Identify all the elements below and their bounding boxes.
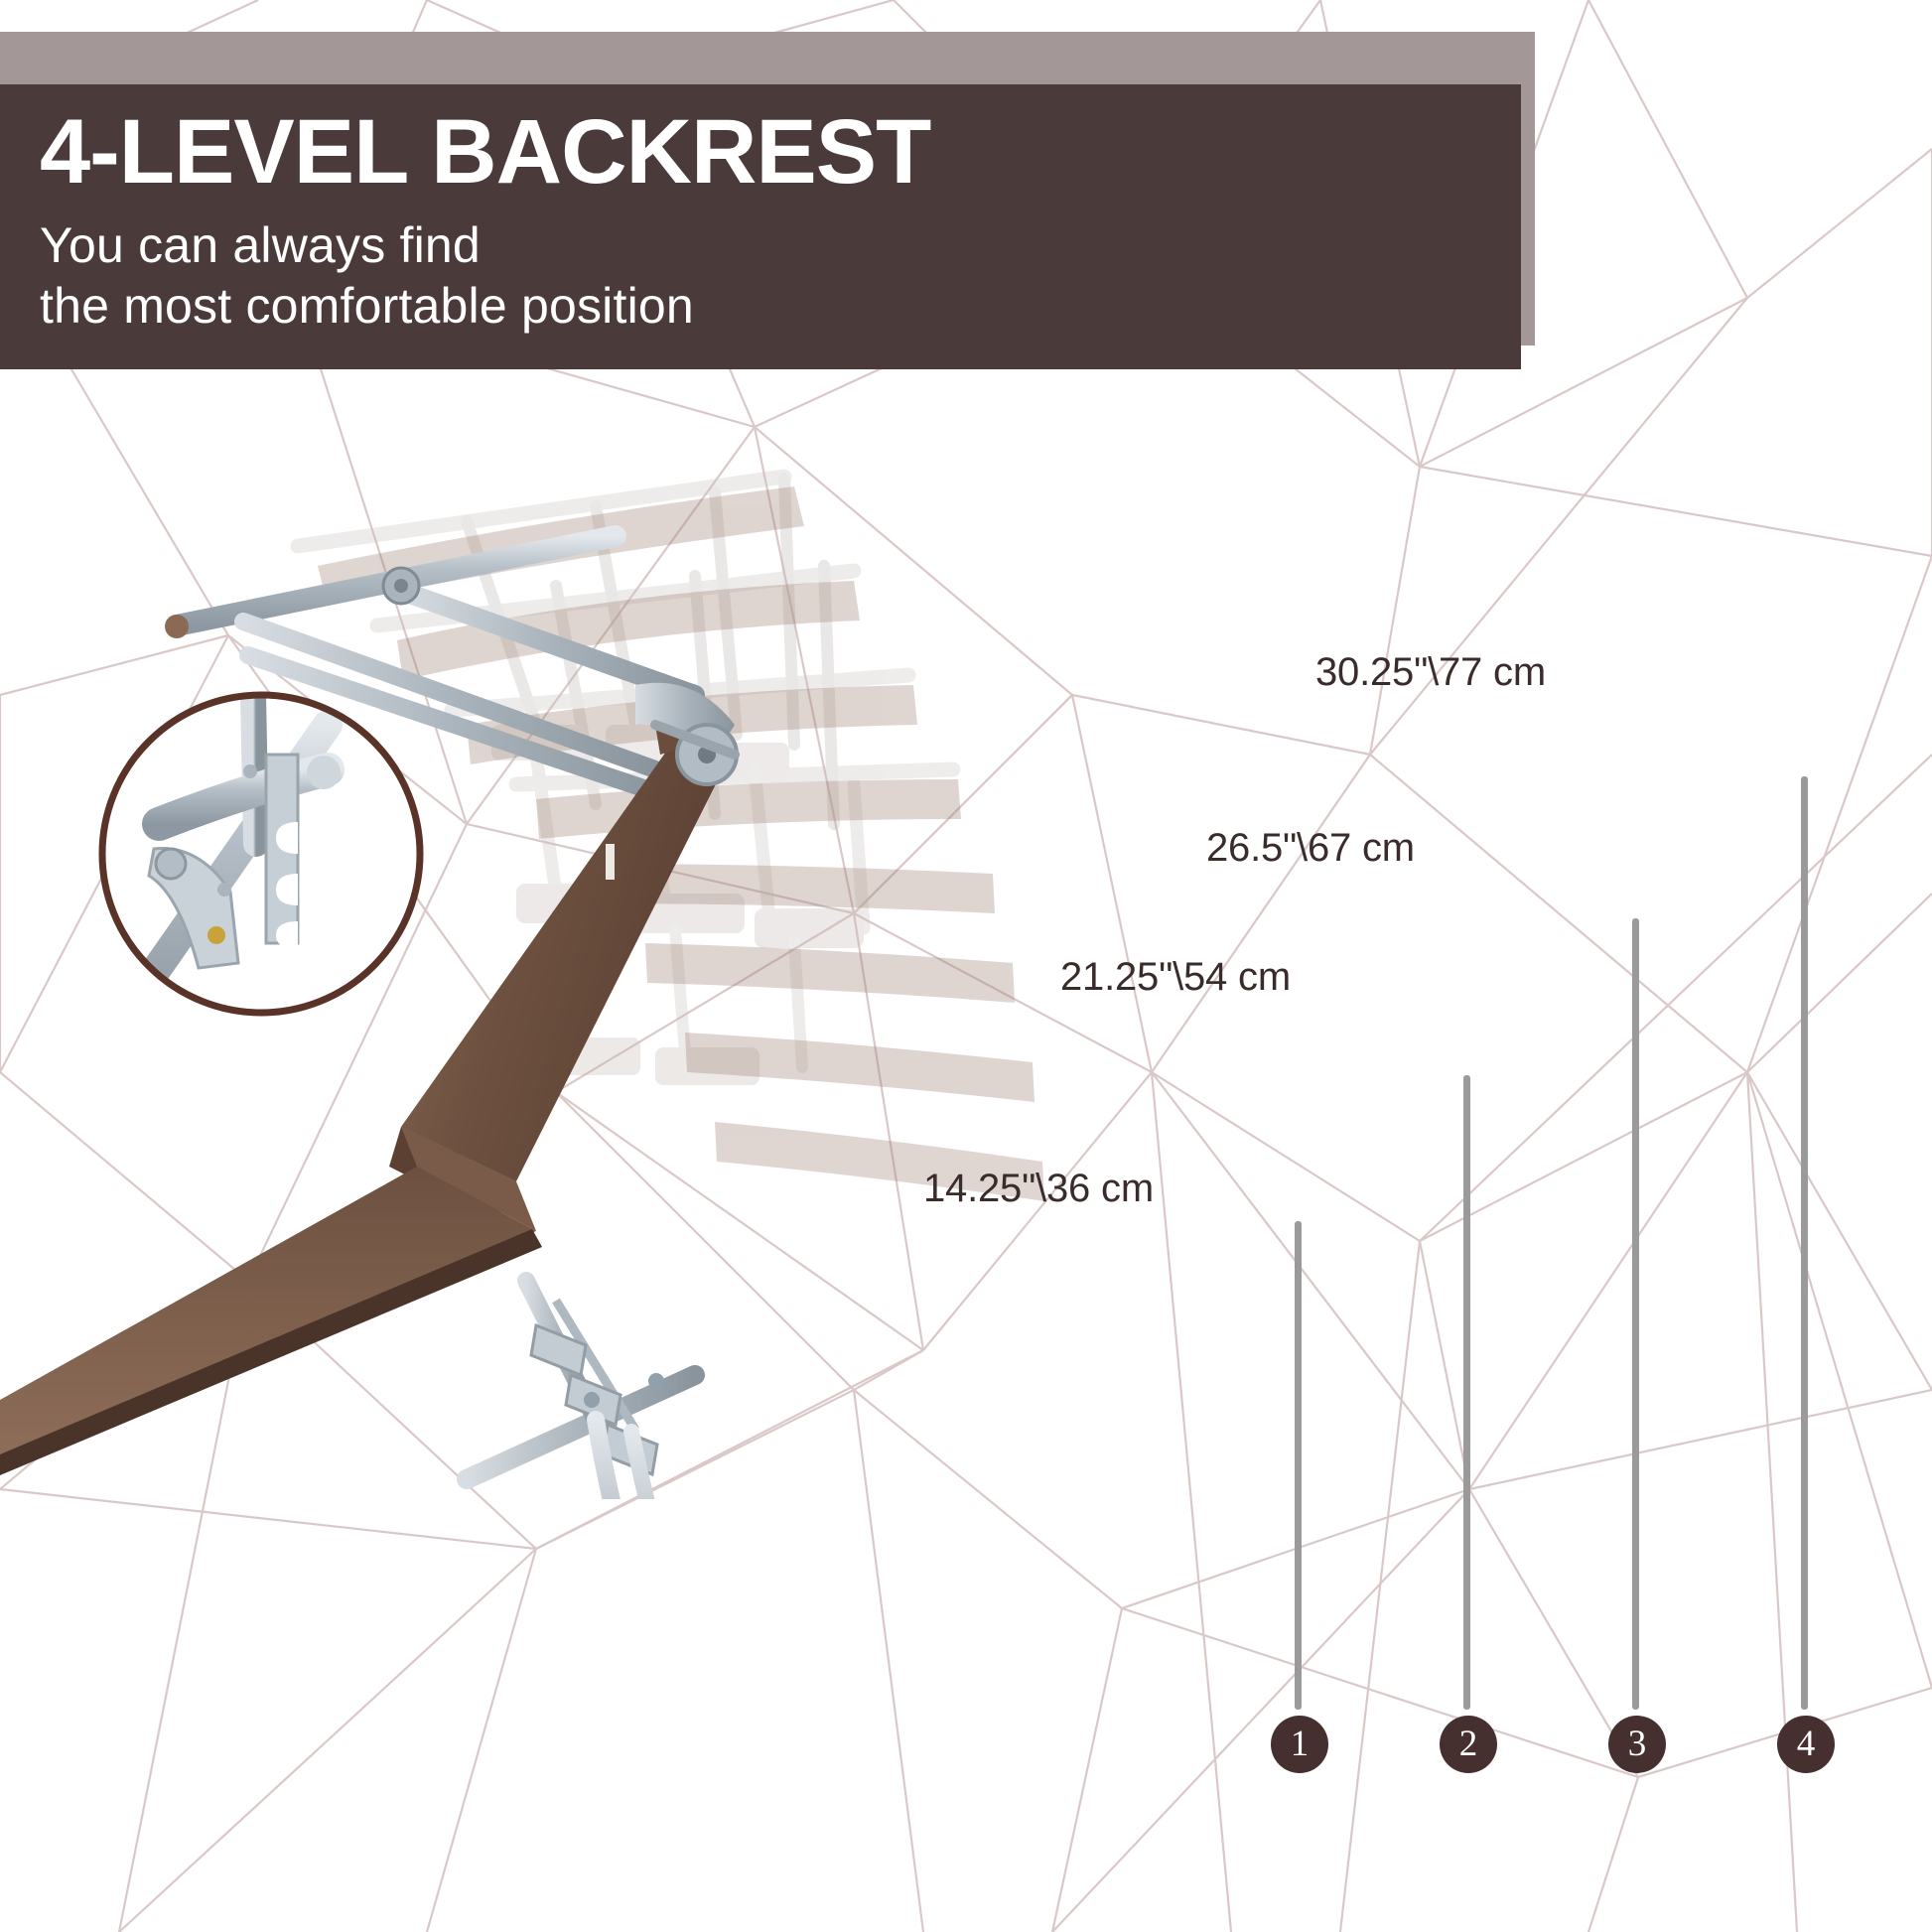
detail-zoom-inset — [99, 690, 427, 1023]
level-marker-1: 1 — [1271, 1716, 1328, 1773]
banner-subtitle: You can always find the most comfortable… — [40, 215, 1521, 337]
banner-title: 4-LEVEL BACKREST — [40, 106, 1521, 198]
dimension-label-1: 14.25"\36 cm — [923, 1167, 1154, 1211]
infographic-canvas: 30.25"\77 cm 4 26.5"\67 cm 3 21.25"\54 c… — [0, 0, 1932, 1932]
header-banner: 4-LEVEL BACKREST You can always find the… — [0, 84, 1521, 369]
dimension-line-4 — [1801, 776, 1808, 1710]
level-marker-4: 4 — [1777, 1716, 1835, 1773]
dimension-line-2 — [1463, 1075, 1470, 1710]
banner-subtitle-line-1: You can always find — [40, 215, 1521, 276]
lounger-ratchet-bracket — [467, 1281, 735, 1499]
level-marker-2: 2 — [1440, 1716, 1497, 1773]
dimension-label-4: 30.25"\77 cm — [1315, 650, 1546, 695]
dimension-line-3 — [1632, 918, 1639, 1710]
dimension-label-3: 26.5"\67 cm — [1206, 826, 1415, 871]
dimension-guide-group: 30.25"\77 cm 4 26.5"\67 cm 3 21.25"\54 c… — [993, 616, 1932, 1837]
banner-subtitle-line-2: the most comfortable position — [40, 276, 1521, 337]
level-marker-3: 3 — [1608, 1716, 1666, 1773]
seat-fabric-panel — [0, 1127, 542, 1475]
dimension-label-2: 21.25"\54 cm — [1060, 955, 1291, 1000]
dimension-line-1 — [1295, 1221, 1302, 1710]
